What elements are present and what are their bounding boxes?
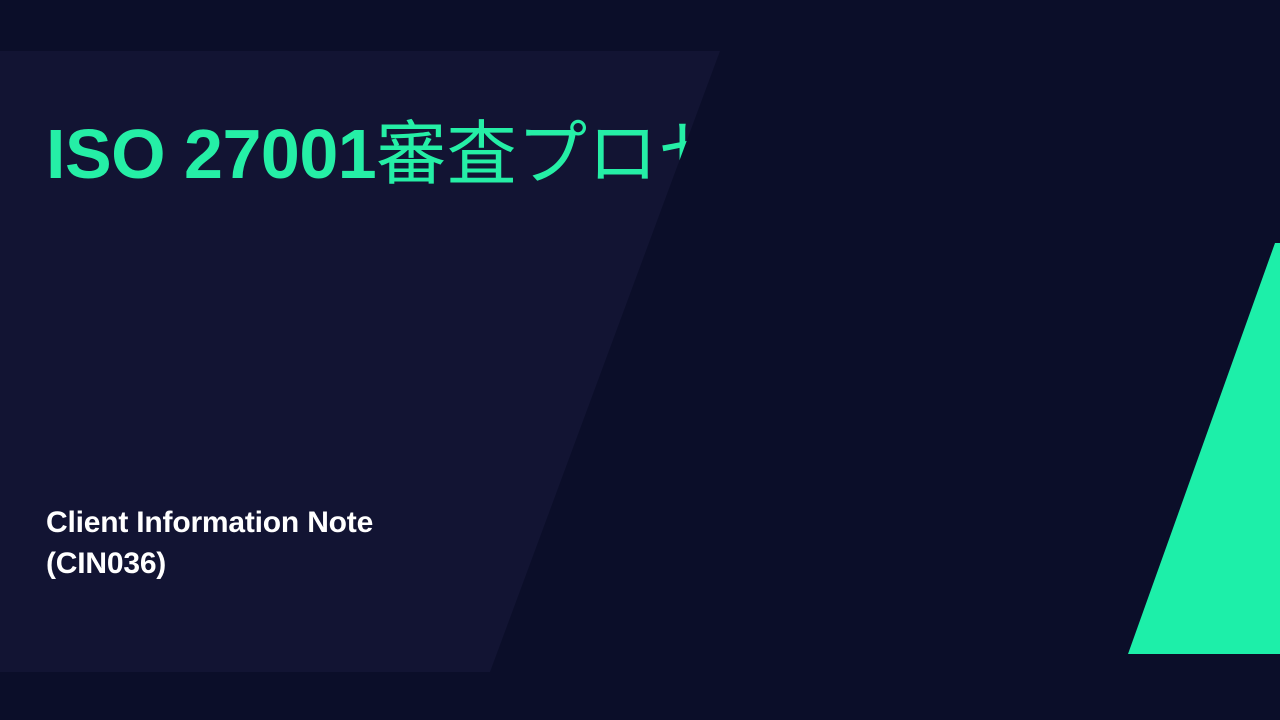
slide-title: ISO 27001審査プロセス: [46, 118, 760, 192]
slide-subtitle: Client Information Note (CIN036): [46, 503, 606, 585]
green-wedge-shape: [1100, 230, 1280, 660]
slide-subtitle-line-2: (CIN036): [46, 544, 606, 585]
slide-title-latin: ISO 27001: [46, 115, 376, 193]
bottom-band: [0, 672, 1280, 720]
slide-title-japanese: 審査プロセス: [376, 113, 760, 195]
navy-panel-shape: ISO 27001審査プロセス Client Information Note …: [0, 0, 760, 720]
slide-subtitle-line-1: Client Information Note: [46, 503, 606, 544]
title-slide: ISO 27001審査プロセス Client Information Note …: [0, 0, 1280, 720]
